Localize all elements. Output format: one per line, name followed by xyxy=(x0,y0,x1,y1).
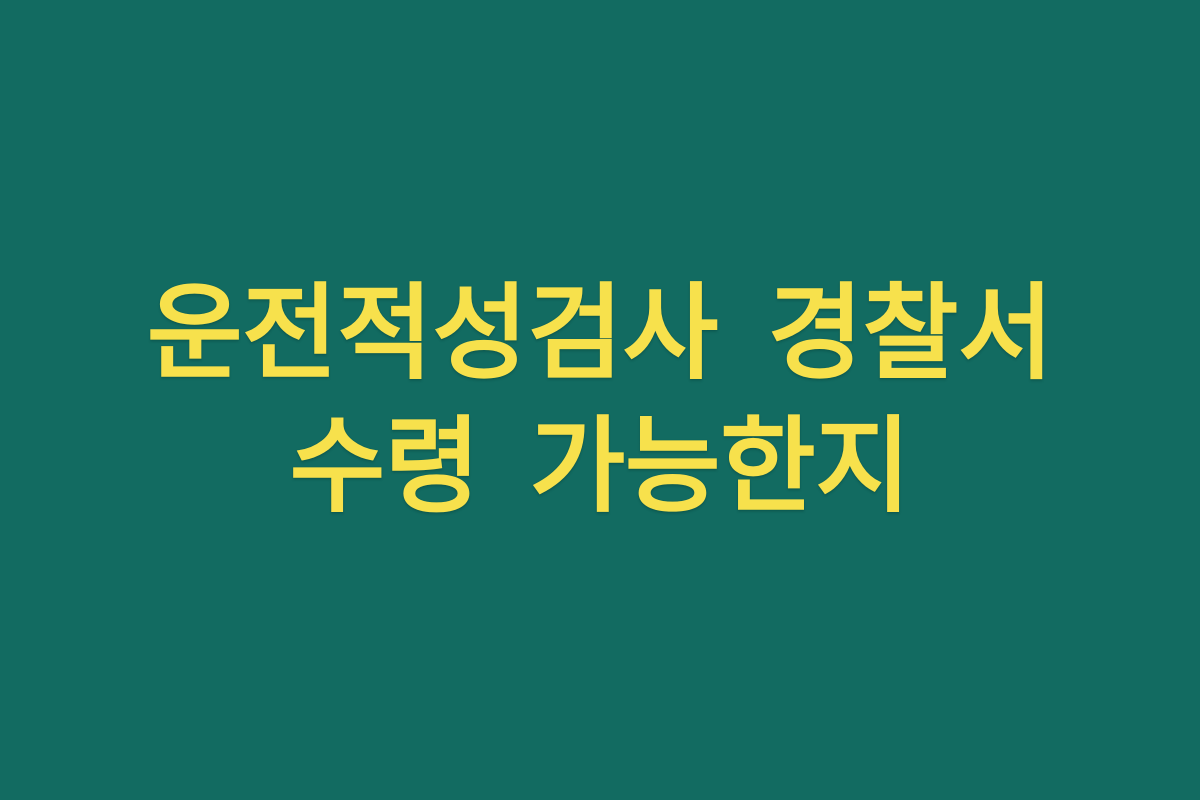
banner-headline: 운전적성검사 경찰서 수령 가능한지 xyxy=(95,267,1105,533)
text-banner: 운전적성검사 경찰서 수령 가능한지 xyxy=(0,0,1200,800)
